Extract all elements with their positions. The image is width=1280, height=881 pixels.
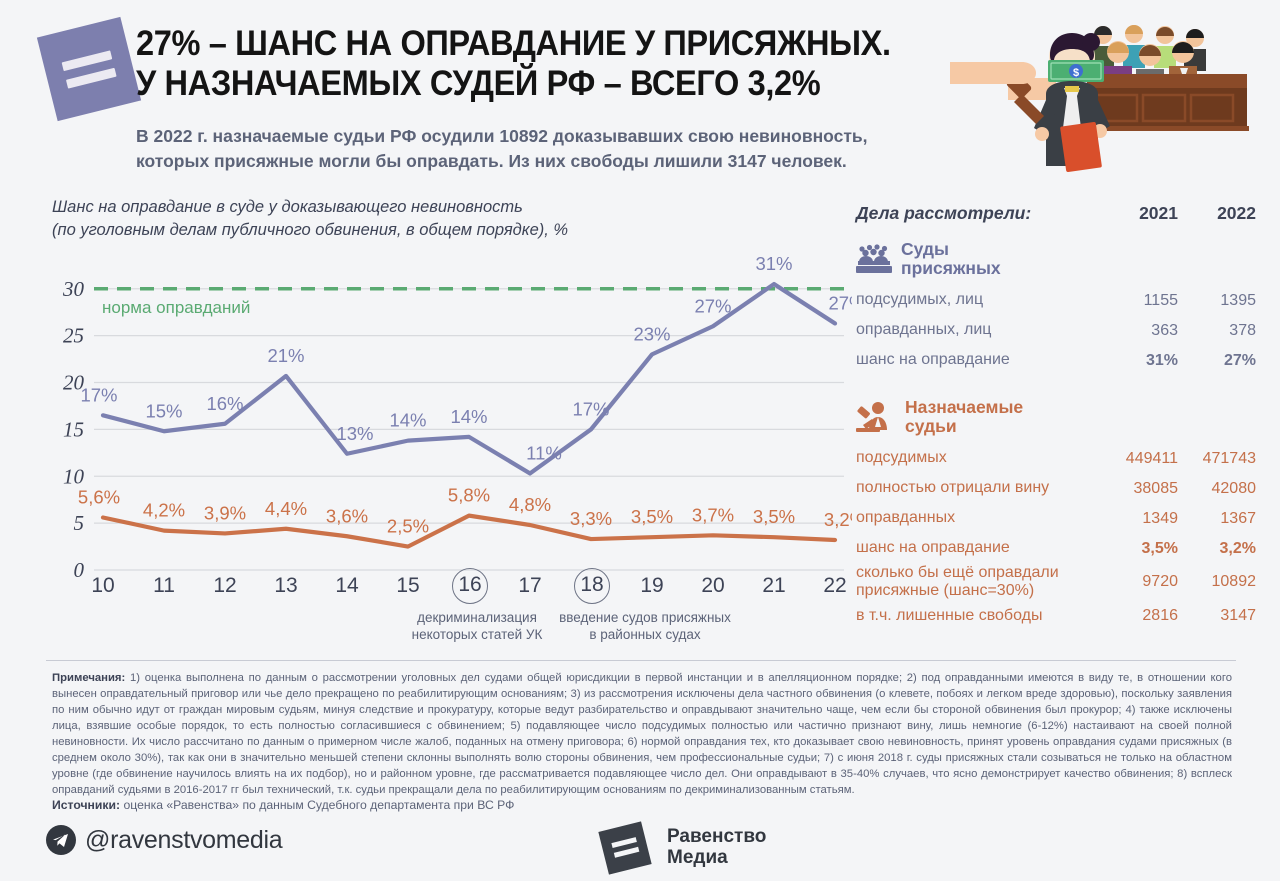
svg-text:5,6%: 5,6% xyxy=(78,487,120,508)
svg-text:15: 15 xyxy=(63,417,84,441)
row-value-2022: 3147 xyxy=(1178,607,1256,625)
table-row: шанс на оправдание31%27% xyxy=(856,346,1256,376)
svg-text:25: 25 xyxy=(63,324,84,348)
row-value-2022: 471743 xyxy=(1178,450,1256,468)
jury-title-line1: Суды xyxy=(901,240,1001,259)
page-subtitle-line2: которых присяжные могли бы оправдать. Из… xyxy=(136,149,926,174)
svg-text:3,5%: 3,5% xyxy=(631,506,673,527)
x-axis-label-16: 16 xyxy=(452,568,488,604)
row-label: подсудимых, лиц xyxy=(856,291,1100,310)
row-value-2021: 449411 xyxy=(1100,450,1178,468)
table-row: оправданных13491367 xyxy=(856,504,1256,534)
x-axis-label-15: 15 xyxy=(396,574,419,598)
row-value-2021: 2816 xyxy=(1100,607,1178,625)
svg-text:11%: 11% xyxy=(526,442,562,463)
x-axis-label-22: 22 xyxy=(823,574,846,598)
table-group-judges-title: Назначаемые судьи xyxy=(905,398,1023,436)
row-value-2022: 3,2% xyxy=(1178,540,1256,558)
table-row: сколько бы ещё оправдалиприсяжные (шанс=… xyxy=(856,564,1256,602)
row-value-2022: 42080 xyxy=(1178,480,1256,498)
table-group-jury-header: Суды присяжных xyxy=(856,240,1256,278)
svg-text:27%: 27% xyxy=(694,295,731,316)
jury-box-icon xyxy=(856,244,892,274)
svg-text:21%: 21% xyxy=(267,345,304,366)
telegram-icon[interactable] xyxy=(46,825,76,855)
page-subtitle: В 2022 г. назначаемые судьи РФ осудили 1… xyxy=(136,124,926,174)
x-axis-label-13: 13 xyxy=(274,574,297,598)
chart-title-line2: (по уголовным делам публичного обвинения… xyxy=(52,219,842,242)
svg-text:23%: 23% xyxy=(633,323,670,344)
table-row: подсудимых, лиц11551395 xyxy=(856,286,1256,316)
svg-text:14%: 14% xyxy=(389,410,426,431)
judges-title-line1: Назначаемые xyxy=(905,398,1023,417)
row-label: оправданных, лиц xyxy=(856,321,1100,340)
table-group-judges: Назначаемые судьи подсудимых449411471743… xyxy=(856,398,1256,632)
row-value-2021: 1349 xyxy=(1100,510,1178,528)
row-value-2021: 38085 xyxy=(1100,480,1178,498)
svg-text:норма оправданий: норма оправданий xyxy=(102,298,250,317)
infographic-page: 27% – ШАНС НА ОПРАВДАНИЕ У ПРИСЯЖНЫХ. У … xyxy=(0,0,1280,881)
equals-diamond-icon xyxy=(594,817,656,879)
sources-block: Источники: оценка «Равенства» по данным … xyxy=(52,798,952,812)
notes-block: Примечания: 1) оценка выполнена по данны… xyxy=(52,670,1232,798)
x-axis-label-21: 21 xyxy=(762,574,785,598)
chart-data-labels: 17%15%16%21%13%14%14%11%17%23%27%31%27%5… xyxy=(78,253,852,537)
svg-text:30: 30 xyxy=(62,277,85,301)
svg-text:$: $ xyxy=(1073,67,1079,79)
row-value-2022: 378 xyxy=(1178,322,1256,340)
row-label: сколько бы ещё оправдалиприсяжные (шанс=… xyxy=(856,564,1100,602)
chart-x-axis: 10111213141516171819202122 декриминализа… xyxy=(52,568,852,604)
chart-gridlines xyxy=(94,289,844,570)
svg-text:4,8%: 4,8% xyxy=(509,494,551,515)
svg-text:13%: 13% xyxy=(336,423,373,444)
notes-label: Примечания: xyxy=(52,672,125,684)
svg-text:14%: 14% xyxy=(450,406,487,427)
svg-text:3,3%: 3,3% xyxy=(570,508,612,529)
row-value-2021: 31% xyxy=(1100,352,1178,370)
chart-title-line1: Шанс на оправдание в суде у доказывающег… xyxy=(52,196,842,219)
column-header-2021: 2021 xyxy=(1100,203,1178,224)
svg-text:10: 10 xyxy=(63,464,85,488)
row-value-2021: 3,5% xyxy=(1100,540,1178,558)
x-axis-label-18: 18 xyxy=(574,568,610,604)
svg-text:16%: 16% xyxy=(206,393,243,414)
svg-text:3,5%: 3,5% xyxy=(753,506,795,527)
row-label: в т.ч. лишенные свободы xyxy=(856,607,1100,626)
row-label: шанс на оправдание xyxy=(856,539,1100,558)
table-row: оправданных, лиц363378 xyxy=(856,316,1256,346)
row-label: полностью отрицали вину xyxy=(856,479,1100,498)
notes-text: 1) оценка выполнена по данным о рассмотр… xyxy=(52,672,1232,796)
chart-y-tick-labels: 051015202530 xyxy=(62,277,85,582)
row-value-2022: 1395 xyxy=(1178,292,1256,310)
x-axis-label-12: 12 xyxy=(213,574,236,598)
line-chart-svg: 051015202530 норма оправданий 17%15%16%2… xyxy=(52,252,852,582)
table-group-jury: Суды присяжных подсудимых, лиц11551395оп… xyxy=(856,240,1256,376)
row-value-2021: 1155 xyxy=(1100,292,1178,310)
column-header-2022: 2022 xyxy=(1178,203,1256,224)
row-label: шанс на оправдание xyxy=(856,351,1100,370)
svg-text:3,6%: 3,6% xyxy=(326,505,368,526)
table-row: полностью отрицали вину3808542080 xyxy=(856,474,1256,504)
row-value-2021: 9720 xyxy=(1100,573,1178,591)
table-row: в т.ч. лишенные свободы28163147 xyxy=(856,601,1256,631)
x-axis-label-11: 11 xyxy=(153,574,175,598)
table-row: подсудимых449411471743 xyxy=(856,444,1256,474)
x-axis-annotation-18: введение судов присяжныхв районных судах xyxy=(535,610,755,644)
divider xyxy=(46,660,1236,661)
row-label: подсудимых xyxy=(856,449,1100,468)
table-group-judges-header: Назначаемые судьи xyxy=(856,398,1256,436)
summary-table-title: Дела рассмотрели: xyxy=(856,203,1100,224)
x-axis-label-10: 10 xyxy=(91,574,114,598)
page-title-line2: У НАЗНАЧАЕМЫХ СУДЕЙ РФ – ВСЕГО 3,2% xyxy=(136,64,954,104)
svg-text:2,5%: 2,5% xyxy=(387,516,429,537)
svg-text:5,8%: 5,8% xyxy=(448,485,490,506)
table-row: шанс на оправдание3,5%3,2% xyxy=(856,534,1256,564)
svg-text:17%: 17% xyxy=(572,398,609,419)
svg-text:17%: 17% xyxy=(80,384,117,405)
row-value-2021: 363 xyxy=(1100,322,1178,340)
equals-diamond-icon xyxy=(37,17,141,121)
row-label: оправданных xyxy=(856,509,1100,528)
brand-line2: Медиа xyxy=(667,848,766,869)
svg-text:3,7%: 3,7% xyxy=(692,504,734,525)
row-value-2022: 27% xyxy=(1178,352,1256,370)
telegram-handle[interactable]: @ravenstvomedia xyxy=(85,826,282,855)
svg-text:4,4%: 4,4% xyxy=(265,498,307,519)
page-title-line1: 27% – ШАНС НА ОПРАВДАНИЕ У ПРИСЯЖНЫХ. xyxy=(136,24,954,64)
svg-text:5: 5 xyxy=(74,511,85,535)
svg-text:3,9%: 3,9% xyxy=(204,502,246,523)
svg-text:31%: 31% xyxy=(755,253,792,274)
judge-gavel-icon xyxy=(856,401,896,433)
brand-block: Равенство Медиа xyxy=(594,817,766,879)
summary-table: Дела рассмотрели: 2021 2022 Суды присяжн… xyxy=(856,203,1256,631)
header: 27% – ШАНС НА ОПРАВДАНИЕ У ПРИСЯЖНЫХ. У … xyxy=(0,0,1280,190)
page-subtitle-line1: В 2022 г. назначаемые судьи РФ осудили 1… xyxy=(136,124,926,149)
sources-label: Источники: xyxy=(52,798,120,812)
chart-title: Шанс на оправдание в суде у доказывающег… xyxy=(52,196,842,242)
svg-text:15%: 15% xyxy=(145,400,182,421)
summary-table-header: Дела рассмотрели: 2021 2022 xyxy=(856,203,1256,224)
chart-plot-area: 051015202530 норма оправданий 17%15%16%2… xyxy=(52,252,842,582)
judges-title-line2: судьи xyxy=(905,417,1023,436)
x-axis-label-19: 19 xyxy=(640,574,663,598)
bribed-judge-and-jury-box-illustration: $ xyxy=(950,0,1280,195)
brand-line1: Равенство xyxy=(667,827,766,848)
x-axis-label-14: 14 xyxy=(335,574,358,598)
svg-text:3,2%: 3,2% xyxy=(824,509,852,530)
x-axis-label-17: 17 xyxy=(518,574,541,598)
page-title: 27% – ШАНС НА ОПРАВДАНИЕ У ПРИСЯЖНЫХ. У … xyxy=(136,24,954,104)
svg-text:27%: 27% xyxy=(828,292,852,313)
svg-text:4,2%: 4,2% xyxy=(143,500,185,521)
row-value-2022: 1367 xyxy=(1178,510,1256,528)
sources-text: оценка «Равенства» по данным Судебного д… xyxy=(120,798,514,812)
table-group-jury-title: Суды присяжных xyxy=(901,240,1001,278)
x-axis-label-20: 20 xyxy=(701,574,724,598)
brand-name: Равенство Медиа xyxy=(667,827,766,868)
telegram-handle-block[interactable]: @ravenstvomedia xyxy=(46,825,282,855)
row-value-2022: 10892 xyxy=(1178,573,1256,591)
jury-title-line2: присяжных xyxy=(901,259,1001,278)
